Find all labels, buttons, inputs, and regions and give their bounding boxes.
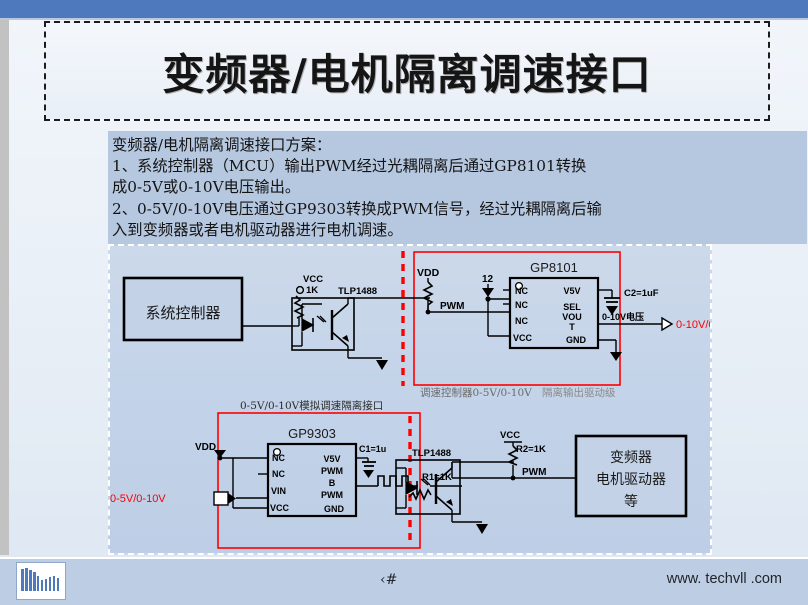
techvll-bars-logo-icon	[16, 562, 66, 600]
caption-isolated-output-stage: 隔离输出驱动级	[542, 386, 616, 399]
pwm-waveform-symbol	[378, 476, 418, 486]
r2-label: R2=1K	[516, 444, 546, 455]
top-band-edge	[0, 18, 808, 20]
gp9303-left-pin-2: NC	[272, 469, 285, 479]
top-opto-transistor-collector	[332, 304, 348, 318]
caption-analog-isolation-interface: 0-5V/0-10V模拟调速隔离接口	[240, 399, 383, 412]
gp8101-left-pin-2: NC	[515, 300, 528, 310]
description-line-1: 变频器/电机隔离调速接口方案：	[112, 135, 801, 156]
driver-block-line-1: 变频器	[610, 450, 652, 466]
gp9303-left-pin-3: VIN	[271, 486, 286, 496]
driver-block-line-3: 等	[624, 493, 638, 510]
bottom-opto-ground-symbol	[476, 524, 488, 534]
description-line-2: 1、系统控制器（MCU）输出PWM经过光耦隔离后通过GP8101转换	[112, 156, 801, 177]
gp9303-chip-name: GP9303	[288, 426, 336, 441]
gp8101-left-pin-1: NC	[515, 286, 528, 296]
top-vcc-label: VCC	[303, 274, 323, 285]
gp9303-right-pin-3: B	[329, 478, 336, 488]
top-optocoupler-label: TLP1488	[338, 286, 377, 297]
top-pwm-label: PWM	[440, 301, 464, 312]
logo-bars-svg	[17, 563, 65, 599]
gp8101-right-pin-4: T	[569, 322, 575, 332]
cap-c1-ground	[363, 470, 374, 478]
gp8101-chip-name: GP8101	[530, 260, 578, 275]
bottom-vdd-label: VDD	[195, 442, 216, 453]
top-opto-led	[302, 319, 313, 331]
system-controller-label: 系统控制器	[145, 304, 220, 322]
top-pullup-resistor-label: 1K	[306, 285, 318, 296]
slide: 变频器/电机隔离调速接口 变频器/电机隔离调速接口方案： 1、系统控制器（MCU…	[0, 0, 808, 605]
gp8101-right-pin-5: GND	[566, 335, 587, 345]
gp9303-right-pin-1: V5V	[323, 454, 340, 464]
top-voltage-label: 0-10V电压	[602, 311, 644, 322]
description-line-5: 入到变频器或者电机驱动器进行电机调速。	[112, 220, 801, 241]
gp8101-right-pin-1: V5V	[563, 286, 580, 296]
slide-number-placeholder: ‹#	[380, 572, 397, 588]
page-title: 变频器/电机隔离调速接口	[162, 41, 651, 102]
title-box: 变频器/电机隔离调速接口	[44, 21, 770, 121]
bottom-input-arrow	[228, 493, 236, 504]
cap-c2-label: C2=1uF	[624, 288, 659, 299]
top-output-connector	[662, 318, 672, 330]
gp9303-right-pin-5: GND	[324, 504, 345, 514]
description-block: 变频器/电机隔离调速接口方案： 1、系统控制器（MCU）输出PWM经过光耦隔离后…	[108, 131, 807, 244]
bottom-input-label: 0-5V/0-10V	[110, 493, 166, 505]
left-gray-strip	[0, 20, 9, 555]
cap-c1-label: C1=1u	[359, 444, 386, 454]
driver-block-line-2: 电机驱动器	[596, 472, 666, 488]
bottom-vcc-label: VCC	[500, 430, 520, 441]
top-supply-12-arrow	[482, 288, 494, 297]
gp9303-right-pin-2: PWM	[321, 466, 343, 476]
top-vcc-node	[297, 287, 304, 294]
footer-website-url: www. techvll .com	[667, 571, 782, 587]
gp9303-right-pin-4: PWM	[321, 490, 343, 500]
gp8101-left-pin-4: VCC	[513, 333, 533, 343]
top-output-label: 0-10V/0-5V	[676, 319, 710, 331]
gp8101-left-pin-3: NC	[515, 316, 528, 326]
top-opto-ground-symbol	[376, 360, 388, 370]
circuit-schematic: 系统控制器 VCC 1K TLP1488	[110, 246, 710, 553]
bottom-pwm-label: PWM	[522, 467, 546, 478]
description-line-3: 成0-5V或0-10V电压输出。	[112, 177, 801, 198]
caption-speed-controller: 调速控制器0-5V/0-10V	[420, 386, 532, 399]
gp9303-left-pin-1: NC	[272, 453, 285, 463]
top-supply-12-label: 12	[482, 274, 494, 285]
gp9303-left-pin-4: VCC	[270, 503, 290, 513]
top-blue-band	[0, 0, 808, 18]
bottom-optocoupler-label: TLP1488	[412, 448, 451, 459]
top-opto-light-arrows	[317, 316, 326, 322]
gp8101-right-pin-3: VOU	[562, 312, 582, 322]
top-vdd-label: VDD	[417, 267, 440, 279]
circuit-diagram-region: 系统控制器 VCC 1K TLP1488	[108, 244, 712, 555]
gp8101-right-pin-2: SEL	[563, 302, 581, 312]
bottom-input-connector	[214, 492, 228, 505]
description-line-4: 2、0-5V/0-10V电压通过GP9303转换成PWM信号，经过光耦隔离后输	[112, 199, 801, 220]
